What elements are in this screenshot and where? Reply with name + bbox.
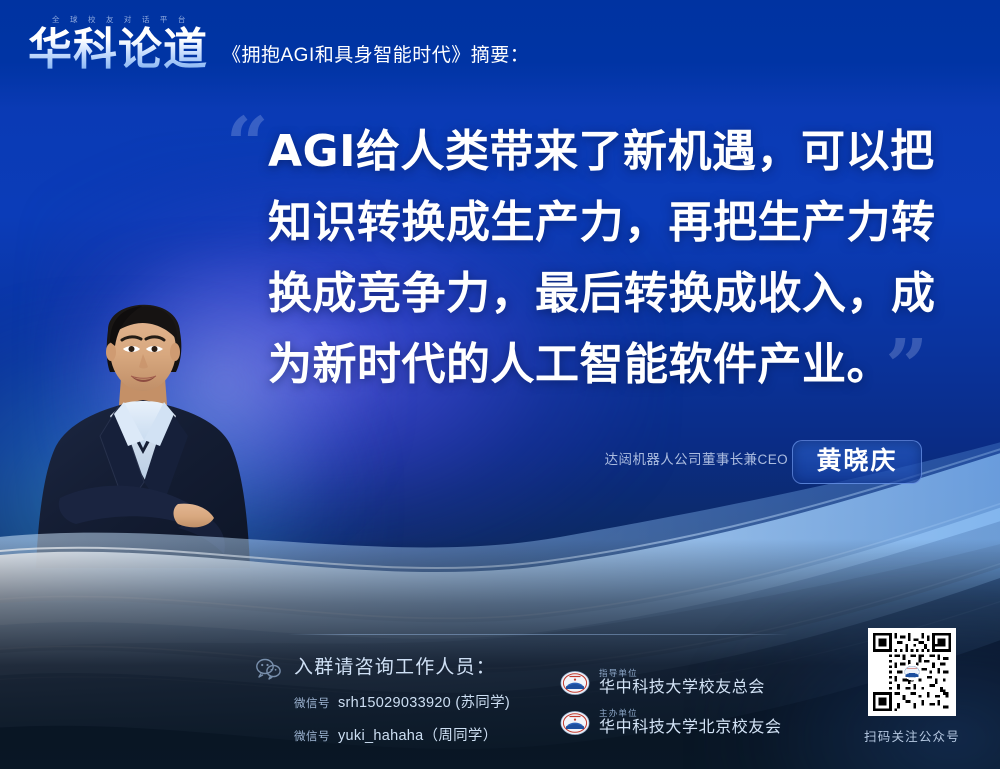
hust-seal-icon: [560, 708, 590, 738]
organization-name: 华中科技大学北京校友会: [599, 720, 782, 737]
contact-row: 微信号 srh15029033920 (苏同学): [294, 691, 510, 712]
organization-kicker: 指导单位: [599, 669, 765, 678]
quote-line-4: 为新时代的人工智能软件产业。: [268, 329, 948, 400]
speaker-name-badge: 黄晓庆: [792, 440, 922, 484]
contact-row: 微信号 yuki_hahaha（周同学）: [294, 724, 510, 745]
footer-divider: [288, 634, 788, 635]
quote-line-1: AGI给人类带来了新机遇，可以把: [268, 116, 948, 187]
organization-row: 主办单位 华中科技大学北京校友会: [560, 708, 782, 738]
qr-caption: 扫码关注公众号: [860, 726, 964, 745]
organizations: 指导单位 华中科技大学校友总会 主办单位 华中科技大学北京校友会: [560, 668, 782, 738]
qr-code[interactable]: [868, 628, 956, 716]
header-subtitle: 《拥抱AGI和具身智能时代》摘要：: [222, 40, 529, 72]
contact-label: 微信号: [294, 695, 330, 711]
quote-line-3: 换成竞争力，最后转换成收入，成: [268, 258, 948, 329]
qr-block: 扫码关注公众号: [860, 628, 964, 745]
organization-kicker: 主办单位: [599, 709, 782, 718]
quote-line-2: 知识转换成生产力，再把生产力转: [268, 187, 948, 258]
qr-code-image: [873, 633, 951, 711]
brand-logo[interactable]: 全 球 校 友 对 话 平 台 华科论道: [28, 16, 208, 72]
contact-value[interactable]: srh15029033920 (苏同学): [338, 691, 510, 712]
brand-tagline: 全 球 校 友 对 话 平 台: [52, 14, 190, 25]
contact-block: 入群请咨询工作人员： 微信号 srh15029033920 (苏同学) 微信号 …: [256, 652, 510, 757]
poster-root: 全 球 校 友 对 话 平 台 华科论道 《拥抱AGI和具身智能时代》摘要： “…: [0, 0, 1000, 769]
contact-title: 入群请咨询工作人员：: [294, 652, 510, 679]
speaker-portrait: [18, 268, 268, 568]
organization-row: 指导单位 华中科技大学校友总会: [560, 668, 782, 698]
contact-label: 微信号: [294, 728, 330, 744]
quote-block: “ AGI给人类带来了新机遇，可以把 知识转换成生产力，再把生产力转 换成竞争力…: [268, 116, 948, 400]
speaker-role: 达闼机器人公司董事长兼CEO: [605, 448, 788, 468]
speaker-name: 黄晓庆: [809, 447, 905, 475]
hust-seal-icon: [560, 668, 590, 698]
header: 全 球 校 友 对 话 平 台 华科论道 《拥抱AGI和具身智能时代》摘要：: [28, 16, 529, 72]
contact-value[interactable]: yuki_hahaha（周同学）: [338, 724, 498, 745]
organization-name: 华中科技大学校友总会: [599, 680, 765, 697]
wechat-icon: [256, 658, 282, 680]
